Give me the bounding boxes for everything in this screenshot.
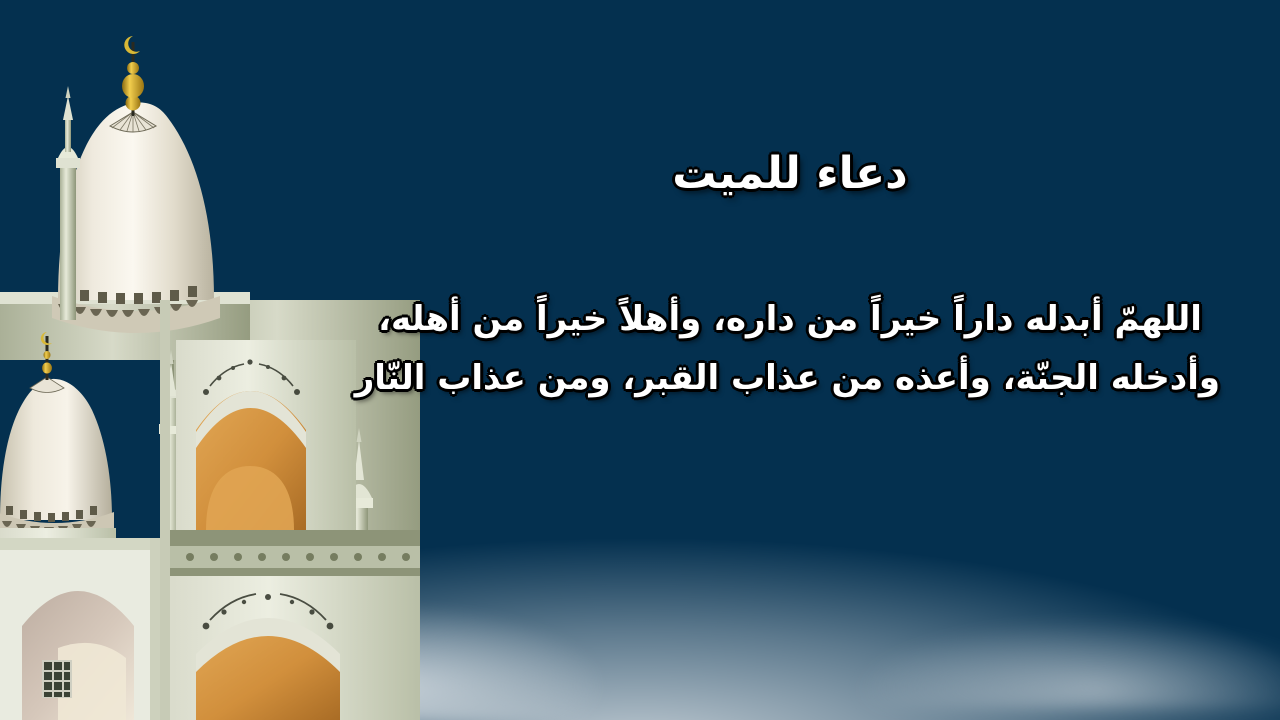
- text-block: دعاء للميت اللهمّ أبدله داراً خيراً من د…: [360, 150, 1220, 407]
- pier-divider: [160, 300, 170, 720]
- cornice-frieze: [160, 530, 420, 576]
- left-small-dome: [0, 332, 114, 539]
- dua-line-2: وأدخله الجنّة، وأعذه من عذاب القبر، ومن …: [360, 349, 1220, 407]
- iwan-arch-lower: [168, 576, 420, 720]
- page-title: دعاء للميت: [360, 150, 1220, 198]
- main-dome: [52, 103, 220, 333]
- grille-window: [42, 660, 72, 698]
- dua-line-1: اللهمّ أبدله داراً خيراً من داره، وأهلاً…: [360, 290, 1220, 348]
- dua-body: اللهمّ أبدله داراً خيراً من داره، وأهلاً…: [360, 290, 1220, 407]
- slide-canvas: دعاء للميت اللهمّ أبدله داراً خيراً من د…: [0, 0, 1280, 720]
- iwan-arch-upper: [176, 340, 356, 530]
- cloud-right: [760, 570, 1280, 710]
- front-arch-portal: [0, 538, 162, 720]
